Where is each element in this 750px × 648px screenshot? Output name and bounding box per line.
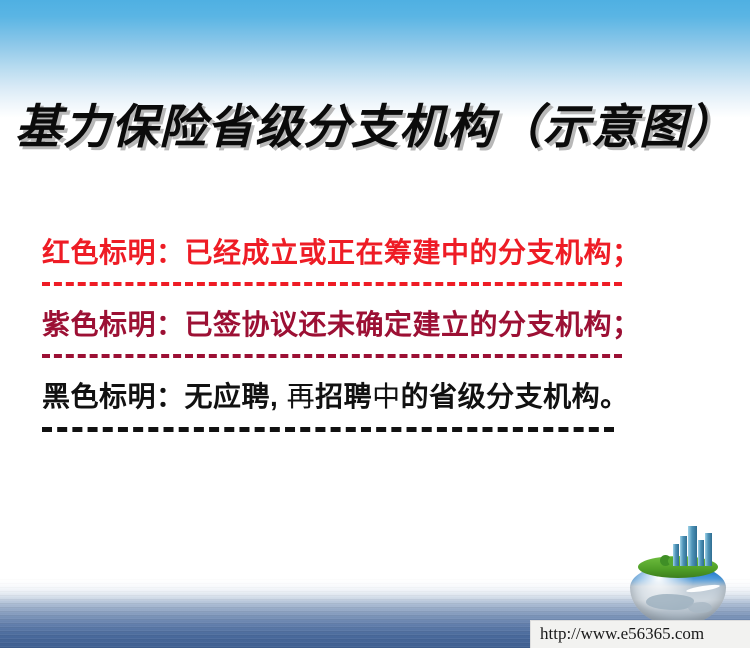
globe-grass-top xyxy=(638,556,718,578)
globe-landmass-secondary-icon xyxy=(688,602,712,613)
divider-dashed-black xyxy=(42,427,614,432)
slide-canvas: 基力保险省级分支机构（示意图） 红色标明：已经成立或正在筹建中的分支机构； 紫色… xyxy=(0,0,750,648)
spacer-2 xyxy=(42,358,708,380)
legend-block: 红色标明：已经成立或正在筹建中的分支机构； 紫色标明：已签协议还未确定建立的分支… xyxy=(42,236,708,432)
watermark-url: http://www.e56365.com xyxy=(540,623,704,645)
legend-row-red: 红色标明：已经成立或正在筹建中的分支机构； xyxy=(42,236,708,270)
legend-black-prefix: 黑色标明： xyxy=(42,381,185,412)
building-icon-5 xyxy=(705,533,712,566)
page-title: 基力保险省级分支机构（示意图） xyxy=(0,98,750,158)
legend-red-text: 已经成立或正在筹建中的分支机构； xyxy=(185,237,641,268)
legend-black-text-c: 的省级分支机构。 xyxy=(401,381,629,412)
globe-city-icon xyxy=(630,548,726,626)
building-icon-4 xyxy=(673,544,679,566)
legend-red-prefix: 红色标明： xyxy=(42,237,185,268)
legend-black-text-light-a: 再 xyxy=(287,381,316,412)
legend-black-text-b: 招聘 xyxy=(315,381,372,412)
globe-landmass-icon xyxy=(646,594,694,610)
globe-highlight xyxy=(686,583,720,593)
building-icon-3 xyxy=(698,540,704,566)
legend-purple-prefix: 紫色标明： xyxy=(42,309,185,340)
legend-black-text-light-b: 中 xyxy=(372,381,401,412)
legend-black-text-a: 无应聘, xyxy=(185,381,287,412)
legend-purple-text: 已签协议还未确定建立的分支机构； xyxy=(185,309,641,340)
legend-row-black: 黑色标明：无应聘, 再招聘中的省级分支机构。 xyxy=(42,380,708,414)
spacer-1 xyxy=(42,286,708,308)
building-icon-2 xyxy=(688,526,697,566)
building-icon-1 xyxy=(680,536,687,566)
legend-row-purple: 紫色标明：已签协议还未确定建立的分支机构； xyxy=(42,308,708,342)
